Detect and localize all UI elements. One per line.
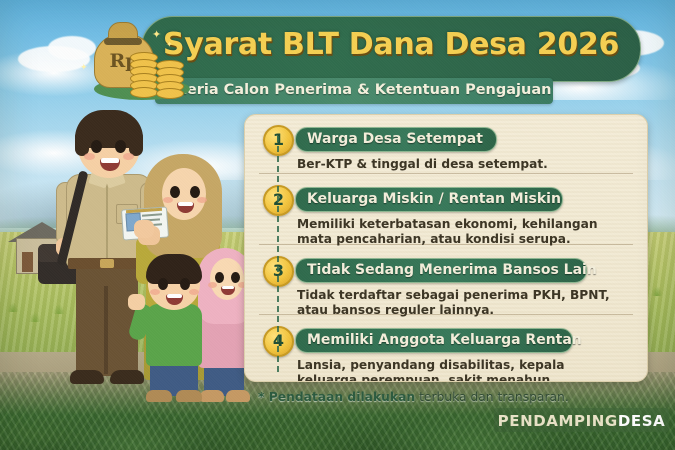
sparkle-icon: ✦ [166,40,173,49]
footnote: * Pendataan dilakukan terbuka dan transp… [258,390,658,404]
page-title: Syarat BLT Dana Desa 2026 [142,27,640,62]
criteria-title: Memiliki Anggota Keluarga Rentan [307,332,562,348]
criteria-description: Tidak terdaftar sebagai penerima PKH, BP… [297,288,627,318]
criteria-title: Keluarga Miskin / Rentan Miskin [307,191,552,207]
criteria-description: Memiliki keterbatasan ekonomi, kehilanga… [297,217,627,247]
brand-wordmark: PENDAMPINGDESA [494,412,669,430]
criteria-title-pill: Tidak Sedang Menerima Bansos Lain [295,258,587,283]
footnote-marker: * [258,390,264,404]
criteria-title-pill: Warga Desa Setempat [295,127,497,152]
criteria-description: Lansia, penyandang disabilitas, kepala k… [297,358,627,382]
criteria-title-pill: Keluarga Miskin / Rentan Miskin [295,187,563,212]
item-separator [259,173,633,174]
title-banner: Syarat BLT Dana Desa 2026 [141,16,641,82]
infographic-poster: Syarat BLT Dana Desa 2026 Kriteria Calon… [0,0,675,450]
criteria-title: Tidak Sedang Menerima Bansos Lain [307,262,576,278]
footnote-regular-text: terbuka dan transparan. [419,390,569,404]
brand-part-1: PENDAMPING [498,412,618,430]
criteria-description: Ber-KTP & tinggal di desa setempat. [297,157,627,172]
sparkle-icon: ✦ [80,62,88,73]
criteria-title-pill: Memiliki Anggota Keluarga Rentan [295,328,573,353]
money-bag-icon: Rp ✦ ✦ ✦ [86,18,198,104]
brand-bar: PENDAMPINGDESA [494,408,669,432]
brand-part-2: DESA [618,412,666,430]
timeline-dashed-connector [277,136,279,372]
family-illustration [18,108,243,398]
criteria-title: Warga Desa Setempat [307,131,486,147]
subtitle-banner: Kriteria Calon Penerima & Ketentuan Peng… [155,78,553,104]
sparkle-icon: ✦ [152,28,161,41]
page-subtitle: Kriteria Calon Penerima & Ketentuan Peng… [155,82,553,98]
criteria-card: 1 Warga Desa Setempat Ber-KTP & tinggal … [244,114,648,382]
footnote-bold-text: Pendataan dilakukan [269,390,415,404]
paddy-plant [648,270,666,296]
